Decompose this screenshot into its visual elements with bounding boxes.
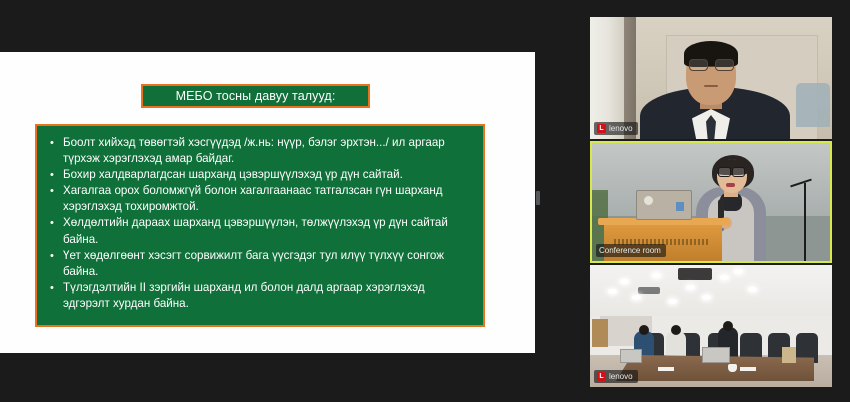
lenovo-logo-icon: L bbox=[597, 372, 606, 381]
participant-name-label-3: L lenovo bbox=[594, 370, 638, 383]
participant-name-text: lenovo bbox=[609, 373, 633, 381]
participant-name-label-2: Conference room bbox=[596, 244, 666, 257]
participant-name-text: Conference room bbox=[599, 247, 661, 255]
list-item: Үет хөдөлгөөнт хэсэгт сорвижилт бага үүс… bbox=[45, 248, 473, 280]
lenovo-logo-icon: L bbox=[597, 124, 606, 133]
participant-tile-2[interactable]: Conference room bbox=[590, 141, 832, 263]
video-feed bbox=[590, 265, 832, 387]
participant-tile-1[interactable]: L lenovo bbox=[590, 17, 832, 139]
slide-bullet-box: Боолт хийхэд төвөгтэй хэсгүүдэд /ж.нь: н… bbox=[35, 124, 485, 327]
participant-tile-3[interactable]: L lenovo bbox=[590, 265, 832, 387]
participant-filmstrip: L lenovo bbox=[572, 0, 850, 402]
slide-title-text: МЕБО тосны давуу талууд: bbox=[176, 90, 336, 103]
presentation-slide: МЕБО тосны давуу талууд: Боолт хийхэд тө… bbox=[0, 52, 535, 353]
list-item: Бохир халдварлагдсан шарханд цэвэршүүлэх… bbox=[45, 167, 473, 183]
list-item: Боолт хийхэд төвөгтэй хэсгүүдэд /ж.нь: н… bbox=[45, 135, 473, 167]
list-item: Хөлдөлтийн дараах шарханд цэвэршүүлэн, т… bbox=[45, 215, 473, 247]
panel-resize-handle[interactable] bbox=[536, 191, 540, 205]
slide-title-banner: МЕБО тосны давуу талууд: bbox=[141, 84, 370, 108]
shared-screen-region[interactable]: МЕБО тосны давуу талууд: Боолт хийхэд тө… bbox=[0, 0, 572, 402]
list-item: Хагалгаа орох боломжгүй болон хагалгаана… bbox=[45, 183, 473, 215]
participant-name-label-1: L lenovo bbox=[594, 122, 638, 135]
video-conference-window: МЕБО тосны давуу талууд: Боолт хийхэд тө… bbox=[0, 0, 850, 402]
list-item: Түлэгдэлтийн II зэргийн шарханд ил болон… bbox=[45, 280, 473, 312]
slide-bullet-list: Боолт хийхэд төвөгтэй хэсгүүдэд /ж.нь: н… bbox=[45, 135, 473, 312]
participant-name-text: lenovo bbox=[609, 125, 633, 133]
video-feed bbox=[590, 17, 832, 139]
